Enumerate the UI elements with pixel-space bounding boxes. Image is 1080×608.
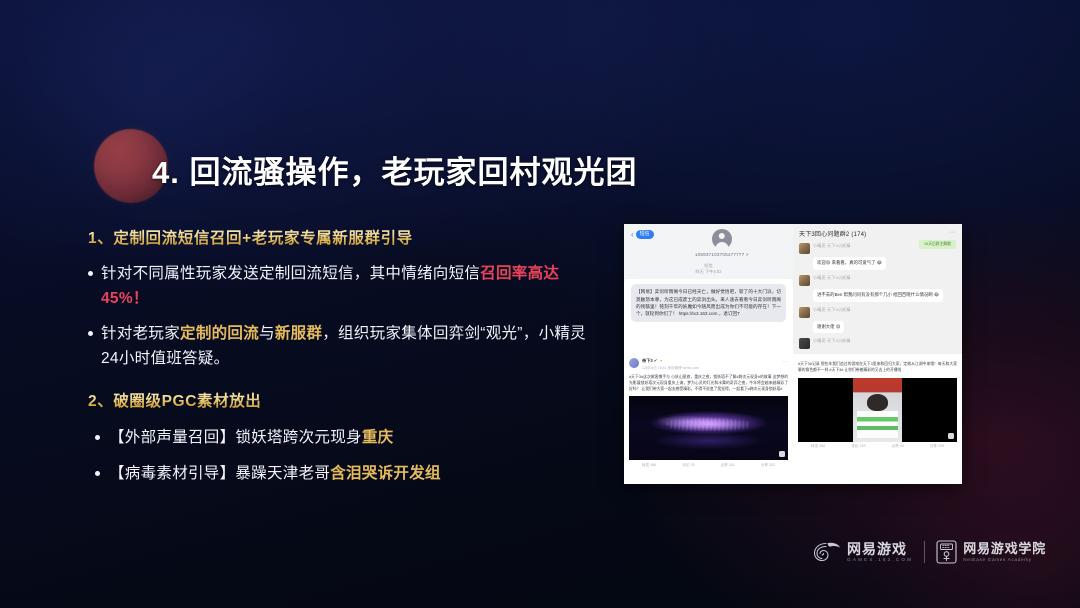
- letterbox-right: [902, 378, 957, 442]
- weibo-post-video-pane: #天下3#记录 那些年我们追过的游戏在天下3里来和回归大家，定做从江湖中来哦！每…: [793, 354, 962, 484]
- lightshow-image: [629, 396, 788, 460]
- bullet-text-highlight-gold: 新服群: [275, 325, 322, 342]
- bullet-item: 针对老玩家定制的回流与新服群，组织玩家集体回弈剑“观光”，小精灵24小时值班答疑…: [88, 321, 588, 371]
- sms-time-label: 昨天 下午4:02: [631, 269, 786, 275]
- academy-name-en: NetEase Games Academy: [963, 557, 1046, 562]
- weibo-post-lightshow-pane: ⋯ 帝下3 ✔ 🔸 12月05日 15:41 来自微博 weibo.com #天…: [624, 354, 793, 484]
- weibo-author-name: 帝下3 ✔ 🔸: [642, 358, 699, 364]
- bullet-text-part: 【外部声量召回】锁妖塔跨次元现身: [109, 429, 362, 446]
- footer-logos: 网易游戏 GAMES.163.COM 网易游戏学院 NetEase Games …: [811, 540, 1046, 564]
- wechat-sender-name: 小精灵·天下3小妖精: [813, 307, 956, 313]
- netease-wordmark: 网易游戏 GAMES.163.COM: [847, 542, 913, 563]
- wechat-message-body: 小精灵·天下3小妖精 进不去的Ben 帮我问问有没有那个几小 给回百晓什么情况啊…: [813, 275, 956, 302]
- avatar: [799, 275, 810, 286]
- play-badge-icon: [948, 433, 954, 439]
- bullet-text-part: 针对老玩家: [101, 325, 180, 342]
- wechat-message-body: 小精灵·天下3小妖精 😄 有包是有一个，不过余额也满了: [813, 338, 956, 354]
- slide-title: 4. 回流骚操作，老玩家回村观光团: [152, 147, 637, 192]
- section-heading-1: 1、定制回流短信召回+老玩家专属新服群引导: [88, 226, 588, 248]
- weibo-post-text: #天下3#记录 那些年我们追过的游戏在天下3里来和回归大家，定做从江湖中来哦！每…: [798, 361, 957, 374]
- wechat-message-bubble: 进不去的Ben 帮我问问有没有那个几小 给回百晓什么情况啊 😂: [813, 289, 943, 302]
- footer-divider: [924, 541, 925, 563]
- bullet-text-part: 与: [259, 325, 275, 342]
- wechat-message-body: 小精灵·天下3小妖精 谢谢大佬 😄: [813, 307, 956, 334]
- sms-sender-number: 106937103705477777 >: [695, 252, 749, 257]
- sms-message-bubble: 【网易】弈剑听雨阁今日已经天亡，做好觉悟吧，斩了的十大门派，切莫触怒本尊，为这已…: [631, 284, 786, 322]
- wechat-sender-name: 小精灵·天下3小妖精: [813, 275, 956, 281]
- weibo-action-like[interactable]: 点赞 201: [721, 463, 735, 468]
- vertical-video-frame: [798, 378, 957, 442]
- netease-name-en: GAMES.163.COM: [847, 557, 913, 562]
- bullet-item: 【外部声量召回】锁妖塔跨次元现身重庆: [88, 425, 588, 450]
- avatar: [799, 243, 810, 254]
- wechat-message-bubble: 谢谢大佬 😄: [813, 321, 844, 334]
- academy-wordmark: 网易游戏学院 NetEase Games Academy: [963, 542, 1046, 563]
- weibo-action-bar: 转发 486 评论 78 点赞 201 分享 303: [629, 460, 788, 470]
- sms-message-card: 【网易】弈剑听雨阁今日已经天亡，做好觉悟吧，斩了的十大门派，切莫触怒本尊，为这已…: [624, 279, 793, 354]
- bullet-item: 针对不同属性玩家发送定制回流短信，其中情绪向短信召回率高达45%！: [88, 261, 588, 311]
- avatar: [799, 307, 810, 318]
- sms-back-button[interactable]: ‹ 短信: [631, 230, 654, 239]
- weibo-post-text: #天下3#这次做客携手与 小妖山泉旅，重庆之夜，锁妖塔不了解#跨次元现身#的故事…: [629, 374, 788, 393]
- chevron-left-icon: ‹: [631, 230, 634, 239]
- weibo-post-video[interactable]: [798, 378, 957, 442]
- weibo-action-like[interactable]: 点赞 90: [892, 444, 904, 449]
- sms-sender-block: 106937103705477777 >: [658, 229, 786, 257]
- bullet-text-highlight-gold: 定制的回流: [180, 325, 259, 342]
- wechat-sender-name: 小精灵·天下3小妖精: [813, 338, 956, 344]
- weibo-post-header: 帝下3 ✔ 🔸 12月05日 15:41 来自微博 weibo.com: [629, 358, 788, 371]
- screenshot-collage: ‹ 短信 106937103705477777 > 短信 昨天 下午4:02 【…: [624, 224, 962, 484]
- wechat-message-row: 小精灵·天下3小妖精 进不去的Ben 帮我问问有没有那个几小 给回百晓什么情况啊…: [799, 275, 956, 302]
- netease-name-zh: 网易游戏: [847, 542, 913, 557]
- slide-body-column: 1、定制回流短信召回+老玩家专属新服群引导 针对不同属性玩家发送定制回流短信，其…: [88, 226, 588, 497]
- weibo-action-bar: 转发 386 评论 145 点赞 90 分享 205: [798, 442, 957, 452]
- sms-screenshot-pane: ‹ 短信 106937103705477777 > 短信 昨天 下午4:02 【…: [624, 224, 793, 354]
- bullet-text-highlight-gold: 含泪哭诉开发组: [330, 465, 441, 482]
- play-badge-icon: [779, 451, 785, 457]
- bullet-item: 【病毒素材引导】暴躁天津老哥含泪哭诉开发组: [88, 461, 588, 486]
- wechat-message-bubble: 欢迎😄 来看看，真的可爱气了 😂: [813, 257, 886, 270]
- weibo-action-comment[interactable]: 评论 78: [682, 463, 694, 468]
- academy-emblem-icon: [936, 540, 957, 564]
- wechat-message-row: 小精灵·天下3小妖精 谢谢大佬 😄: [799, 307, 956, 334]
- avatar: [712, 229, 732, 249]
- weibo-action-repost[interactable]: 转发 486: [642, 463, 656, 468]
- weibo-post-photo[interactable]: [629, 396, 788, 460]
- wechat-notice-banner[interactable]: 15天后群主解散: [919, 240, 956, 249]
- more-options-icon[interactable]: ⋯: [783, 359, 788, 365]
- avatar: [629, 358, 639, 368]
- netease-swirl-icon: [811, 541, 841, 563]
- bullet-text-highlight-gold: 重庆: [362, 429, 394, 446]
- section-heading-2: 2、破圈级PGC素材放出: [88, 389, 588, 411]
- wechat-group-title: 天下3回心问题群2 (174): [799, 229, 956, 238]
- avatar: [799, 338, 810, 349]
- weibo-action-repost[interactable]: 转发 386: [811, 444, 825, 449]
- video-content: [853, 378, 902, 442]
- sms-header: ‹ 短信 106937103705477777 >: [631, 230, 786, 257]
- netease-games-logo: 网易游戏 GAMES.163.COM: [811, 541, 913, 563]
- sms-back-label: 短信: [636, 230, 654, 239]
- netease-academy-logo: 网易游戏学院 NetEase Games Academy: [936, 540, 1046, 564]
- weibo-author-block: 帝下3 ✔ 🔸 12月05日 15:41 来自微博 weibo.com: [642, 358, 699, 371]
- letterbox-left: [798, 378, 853, 442]
- weibo-action-share[interactable]: 分享 303: [761, 463, 775, 468]
- more-options-icon[interactable]: ⋯: [949, 229, 956, 236]
- bullet-text-part: 【病毒素材引导】暴躁天津老哥: [109, 465, 330, 482]
- academy-name-zh: 网易游戏学院: [963, 542, 1046, 556]
- presentation-slide: 4. 回流骚操作，老玩家回村观光团 1、定制回流短信召回+老玩家专属新服群引导 …: [0, 0, 1080, 608]
- wechat-message-row: 小精灵·天下3小妖精 😄 有包是有一个，不过余额也满了: [799, 338, 956, 354]
- weibo-action-comment[interactable]: 评论 145: [851, 444, 865, 449]
- bullet-text-part: 针对不同属性玩家发送定制回流短信，其中情绪向短信: [101, 265, 480, 282]
- wechat-group-pane: 天下3回心问题群2 (174) ⋯ 15天后群主解散 小精灵·天下3小妖精 欢迎…: [793, 224, 962, 354]
- sms-timestamp: 短信 昨天 下午4:02: [631, 263, 786, 276]
- weibo-post-time: 12月05日 15:41 来自微博 weibo.com: [642, 366, 699, 371]
- weibo-action-share[interactable]: 分享 205: [930, 444, 944, 449]
